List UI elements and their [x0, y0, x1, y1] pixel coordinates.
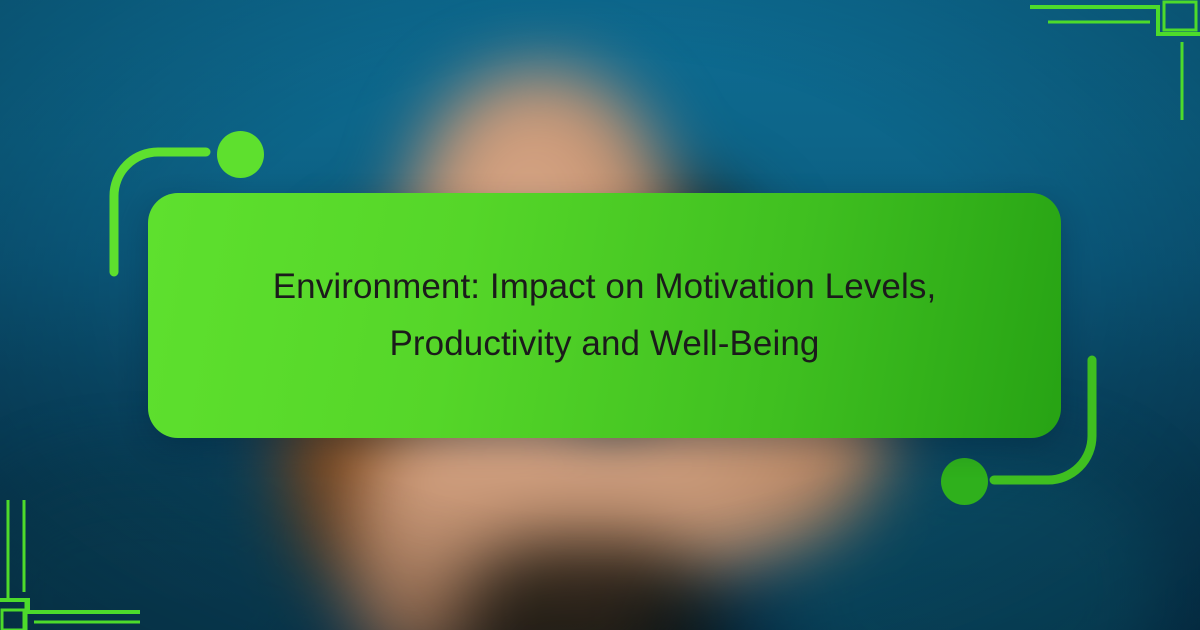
accent-dot-top-left-icon [217, 131, 264, 178]
banner: Environment: Impact on Motivation Levels… [0, 0, 1200, 630]
title-card: Environment: Impact on Motivation Levels… [148, 193, 1061, 438]
accent-dot-bottom-right-icon [941, 458, 988, 505]
page-title: Environment: Impact on Motivation Levels… [212, 259, 997, 372]
